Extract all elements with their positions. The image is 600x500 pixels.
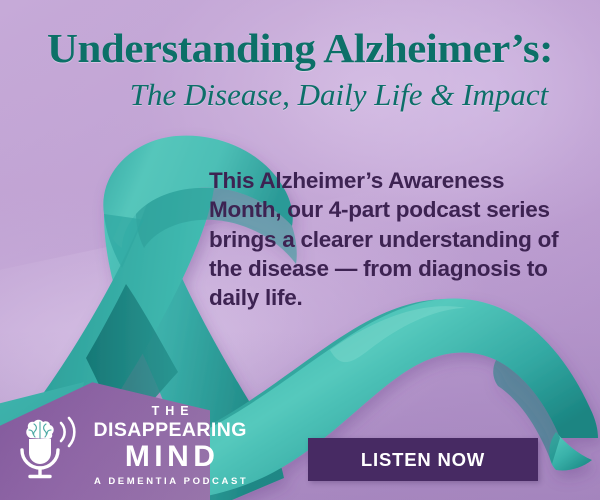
listen-now-button-label: LISTEN NOW bbox=[361, 449, 485, 471]
brand-wordmark: THE DISAPPEARING MIND A DEMENTIA PODCAST bbox=[92, 405, 248, 489]
soundwave-icon bbox=[61, 418, 74, 446]
headline-secondary: The Disease, Daily Life & Impact bbox=[0, 78, 600, 112]
brand-line-mind: MIND bbox=[92, 442, 248, 472]
brand-line-disappearing: DISAPPEARING bbox=[92, 421, 248, 441]
brain-microphone-icon bbox=[8, 409, 84, 483]
brand-tagline: A DEMENTIA PODCAST bbox=[92, 477, 248, 487]
brand-logo[interactable]: THE DISAPPEARING MIND A DEMENTIA PODCAST bbox=[8, 405, 248, 489]
brand-line-the: THE bbox=[92, 405, 248, 418]
headline-primary: Understanding Alzheimer’s: bbox=[0, 28, 600, 70]
headline-block: Understanding Alzheimer’s: The Disease, … bbox=[0, 28, 600, 112]
body-copy: This Alzheimer’s Awareness Month, our 4-… bbox=[209, 166, 569, 312]
alzheimers-awareness-ad-banner: Understanding Alzheimer’s: The Disease, … bbox=[0, 0, 600, 500]
brain-icon bbox=[26, 420, 53, 439]
listen-now-button[interactable]: LISTEN NOW bbox=[308, 438, 538, 481]
